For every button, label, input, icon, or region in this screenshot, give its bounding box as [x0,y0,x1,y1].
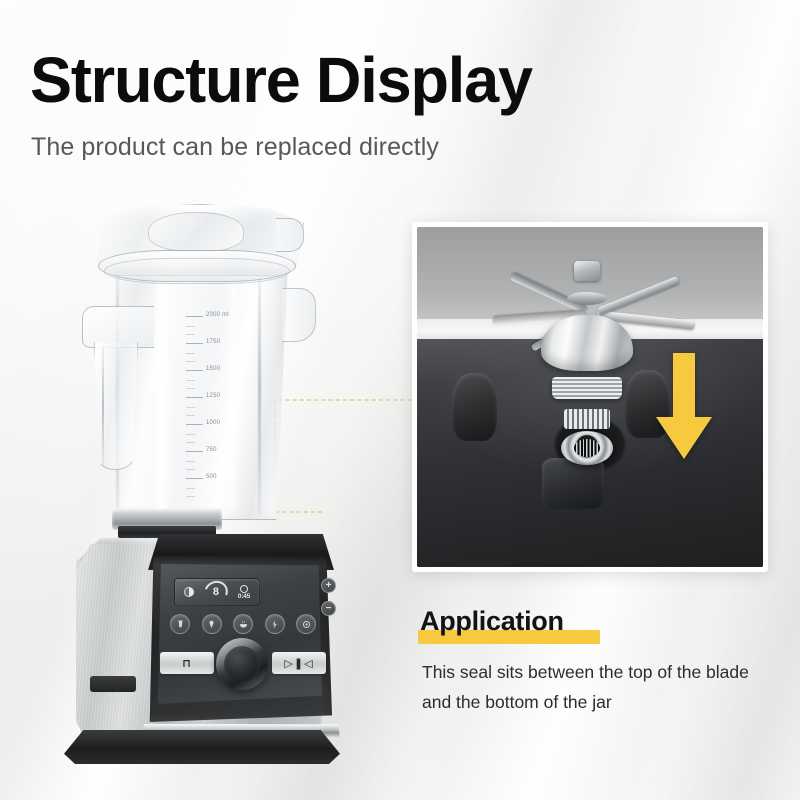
jar-measurement-scale: 2000 ml 1750 1500 1250 1000 [186,312,272,502]
dial-cap [224,646,260,682]
retaining-nut [574,261,600,281]
handle-highlight [102,346,104,466]
speed-indicator: 8 [204,581,228,603]
start-stop-icon: ▷❚◁ [284,657,313,670]
frozen-dessert-icon [207,620,216,629]
handle-top [82,306,154,348]
product-infographic: Structure Display The product can be rep… [0,0,800,800]
speed-value: 8 [204,581,228,603]
threaded-collar [552,377,622,399]
application-title: Application [420,608,564,635]
base-foot [64,730,340,764]
program-frozen-dessert[interactable] [202,614,222,634]
blender-jar: 2000 ml 1750 1500 1250 1000 [82,196,314,526]
application-description: This seal sits between the top of the bl… [422,657,752,717]
lid-tab [276,218,304,252]
blender-motor-base: 8 0:45 + − [48,534,348,766]
jar-spout [282,288,316,342]
program-button-row [170,614,316,634]
scale-label: 500 [206,474,217,480]
jar-handle [82,306,156,474]
increase-button[interactable]: + [321,578,336,593]
program-soup[interactable] [233,614,253,634]
hub-ring [567,292,607,305]
blender-product-image: 2000 ml 1750 1500 1250 1000 [30,196,360,766]
cleaning-icon [270,620,279,629]
page-subtitle: The product can be replaced directly [31,133,439,162]
program-self-clean[interactable] [265,614,285,634]
splined-shaft [564,409,610,429]
dip-spread-icon [302,620,311,629]
program-smoothie[interactable] [170,614,190,634]
inset-photo-content [417,227,763,567]
page-title: Structure Display [30,48,532,112]
scale-label: 2000 ml [206,312,229,318]
lid-seal-ring-inner [104,258,290,284]
lid-center-plug [148,212,244,252]
start-stop-button[interactable]: ▷❚◁ [272,652,326,674]
soup-bowl-icon [239,620,248,629]
pulse-button[interactable]: ⊓ [160,652,214,674]
scale-label: 1750 [206,339,220,345]
rubber-pad [452,373,497,441]
stainless-cone [541,315,633,371]
control-display: 8 0:45 [174,578,260,606]
scale-label: 1250 [206,393,220,399]
decrease-button[interactable]: − [321,601,336,616]
base-vent [90,676,136,692]
clock-icon [240,585,248,593]
smoothie-glass-icon [176,620,185,629]
timer-indicator: 0:45 [238,585,250,600]
application-heading: Application [420,608,564,642]
rubber-pad [542,458,604,509]
down-arrow-annotation [652,353,716,465]
scale-label: 1500 [206,366,220,372]
pulse-icon: ⊓ [182,657,192,670]
splined-drive-coupling [561,431,613,465]
scale-label: 750 [206,447,217,453]
program-dip-spread[interactable] [296,614,316,634]
handle-grip [94,342,138,470]
blade [598,276,681,316]
adjust-button-group: + − [321,578,336,616]
speed-dial[interactable] [216,638,268,690]
timer-value: 0:45 [238,593,250,600]
scale-label: 1000 [206,420,220,426]
blade-assembly-photo [412,222,768,572]
contrast-icon [184,587,194,597]
